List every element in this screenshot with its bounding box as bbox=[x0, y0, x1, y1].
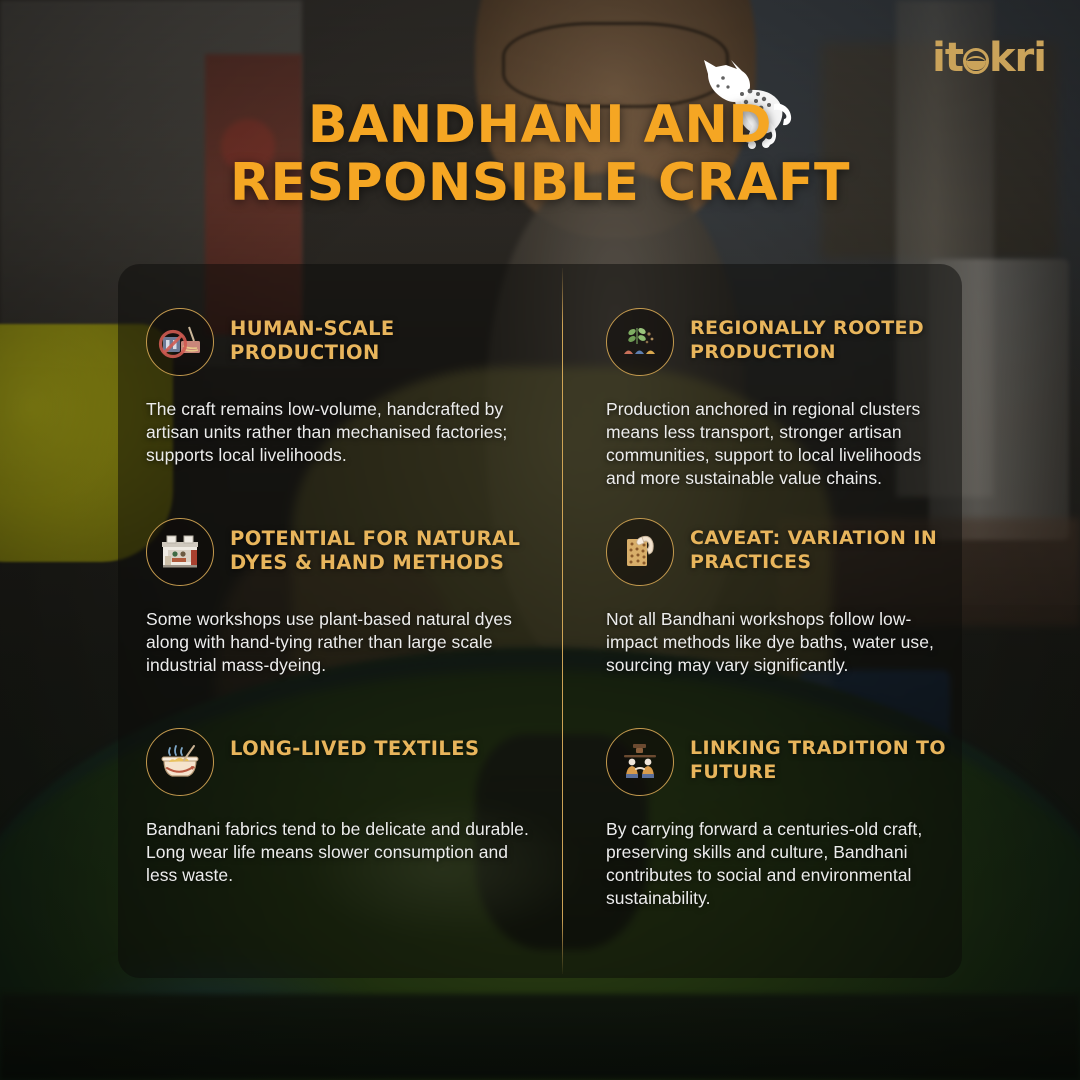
card-header: LONG-LIVED TEXTILES bbox=[146, 728, 536, 796]
two-artisans-weaving-icon bbox=[606, 728, 674, 796]
card-title: LINKING TRADITION TO FUTURE bbox=[690, 728, 948, 785]
hand-holding-patterned-fabric-icon bbox=[606, 518, 674, 586]
page-title: BANDHANI AND RESPONSIBLE CRAFT bbox=[0, 96, 1080, 212]
sprout-soil-mounds-icon bbox=[606, 308, 674, 376]
page-title-line-2: RESPONSIBLE CRAFT bbox=[150, 154, 930, 212]
card-header: POTENTIAL FOR NATURAL DYES & HAND METHOD… bbox=[146, 518, 536, 586]
card-body: Some workshops use plant-based natural d… bbox=[146, 608, 536, 677]
point-card-long-lived-textiles: LONG-LIVED TEXTILES Bandhani fabrics ten… bbox=[118, 684, 562, 894]
itokri-logo[interactable]: itkri bbox=[932, 38, 1046, 78]
logo-basket-icon bbox=[963, 48, 989, 74]
point-card-natural-dyes-hand-methods: POTENTIAL FOR NATURAL DYES & HAND METHOD… bbox=[118, 474, 562, 684]
point-card-human-scale-production: HUMAN-SCALE PRODUCTION The craft remains… bbox=[118, 264, 562, 474]
point-card-caveat-variation-in-practices: CAVEAT: VARIATION IN PRACTICES Not all B… bbox=[562, 474, 962, 684]
point-card-regionally-rooted-production: REGIONALLY ROOTED PRODUCTION Production … bbox=[562, 264, 962, 474]
logo-text-kri: kri bbox=[989, 35, 1046, 81]
steaming-dye-pot-icon bbox=[146, 728, 214, 796]
card-title: LONG-LIVED TEXTILES bbox=[230, 728, 479, 761]
card-header: CAVEAT: VARIATION IN PRACTICES bbox=[606, 518, 948, 586]
card-header: HUMAN-SCALE PRODUCTION bbox=[146, 308, 536, 376]
no-factory-machine-icon bbox=[146, 308, 214, 376]
card-body: Bandhani fabrics tend to be delicate and… bbox=[146, 818, 536, 887]
artisan-workshop-building-icon bbox=[146, 518, 214, 586]
card-header: LINKING TRADITION TO FUTURE bbox=[606, 728, 948, 796]
page-title-line-1: BANDHANI AND bbox=[150, 96, 930, 154]
card-body: By carrying forward a centuries-old craf… bbox=[606, 818, 948, 910]
point-card-linking-tradition-to-future: LINKING TRADITION TO FUTURE By carrying … bbox=[562, 684, 962, 894]
card-title: HUMAN-SCALE PRODUCTION bbox=[230, 308, 536, 366]
infographic-canvas: itkri BANDHANI AND RESPONSIBLE CRAFT bbox=[0, 0, 1080, 1080]
card-header: REGIONALLY ROOTED PRODUCTION bbox=[606, 308, 948, 376]
card-body: Not all Bandhani workshops follow low-im… bbox=[606, 608, 948, 677]
card-title: POTENTIAL FOR NATURAL DYES & HAND METHOD… bbox=[230, 518, 536, 576]
card-title: REGIONALLY ROOTED PRODUCTION bbox=[690, 308, 948, 365]
card-title: CAVEAT: VARIATION IN PRACTICES bbox=[690, 518, 948, 575]
logo-text-i: it bbox=[932, 35, 963, 81]
card-body: The craft remains low-volume, handcrafte… bbox=[146, 398, 536, 467]
points-grid: HUMAN-SCALE PRODUCTION The craft remains… bbox=[118, 264, 962, 978]
